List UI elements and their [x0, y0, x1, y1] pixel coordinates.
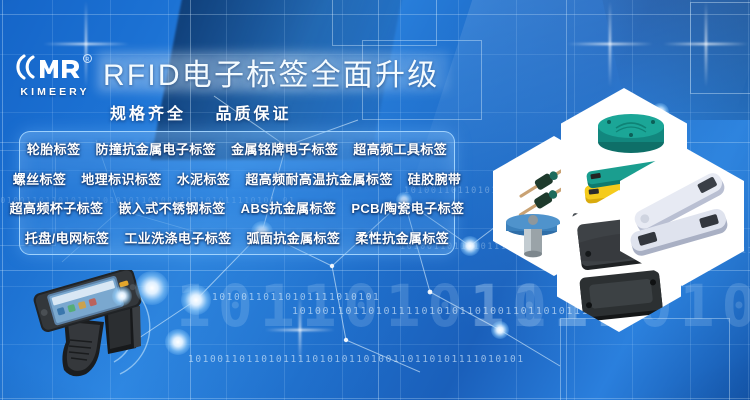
subtitle: 规格齐全 品质保证	[110, 100, 313, 124]
list-item[interactable]: 硅胶腕带	[408, 169, 462, 188]
list-item[interactable]: 柔性抗金属标签	[355, 228, 449, 247]
background-binary-row: 10100110110101111010101	[212, 292, 380, 303]
reader-glow	[135, 271, 169, 305]
svg-text:R: R	[86, 57, 90, 63]
subtitle-part-2: 品质保证	[215, 106, 291, 123]
product-list-row: 托盘/电网标签 工业洗涤电子标签 弧面抗金属标签 柔性抗金属标签	[26, 223, 448, 253]
reader-glow	[112, 286, 132, 306]
brand-logo[interactable]: R KIMEERY	[12, 52, 98, 106]
list-item[interactable]: 防撞抗金属电子标签	[95, 139, 216, 158]
list-item[interactable]: 嵌入式不锈钢标签	[118, 198, 225, 217]
list-item[interactable]: 螺丝标签	[13, 169, 67, 188]
kimeery-logo-mark-icon: R	[12, 52, 98, 84]
list-item[interactable]: PCB/陶瓷电子标签	[351, 198, 464, 217]
product-list-row: 超高频杯子标签 嵌入式不锈钢标签 ABS抗金属标签 PCB/陶瓷电子标签	[26, 193, 448, 223]
brand-name: KIMEERY	[12, 86, 98, 98]
list-item[interactable]: 地理标识标签	[81, 169, 161, 188]
list-item[interactable]: 弧面抗金属标签	[247, 228, 341, 247]
network-node-glow	[165, 329, 191, 355]
list-item[interactable]: 超高频耐高温抗金属标签	[245, 169, 392, 188]
list-item[interactable]: 超高频工具标签	[353, 139, 447, 158]
list-item[interactable]: 水泥标签	[177, 169, 231, 188]
list-item[interactable]: ABS抗金属标签	[241, 198, 337, 217]
network-node-glow	[491, 321, 509, 339]
list-item[interactable]: 超高频杯子标签	[10, 198, 104, 217]
rfid-promo-banner: 10110101111 1011010111111 10100110110101…	[0, 0, 750, 400]
network-node-glow	[460, 236, 480, 256]
page-title: RFID电子标签全面升级	[103, 52, 463, 92]
subtitle-part-1: 规格齐全	[110, 106, 186, 123]
list-item[interactable]: 工业洗涤电子标签	[124, 228, 231, 247]
background-frame-box-3	[690, 2, 750, 94]
list-item[interactable]: 托盘/电网标签	[25, 228, 109, 247]
network-node-glow	[181, 285, 211, 315]
product-list-panel: 轮胎标签 防撞抗金属电子标签 金属铭牌电子标签 超高频工具标签 螺丝标签 地理标…	[19, 131, 455, 255]
product-list-row: 螺丝标签 地理标识标签 水泥标签 超高频耐高温抗金属标签 硅胶腕带	[26, 164, 448, 194]
list-item[interactable]: 金属铭牌电子标签	[231, 139, 338, 158]
product-list-row: 轮胎标签 防撞抗金属电子标签 金属铭牌电子标签 超高频工具标签	[26, 134, 448, 164]
background-binary-row: 1010011011010111101010110100110110101111…	[188, 354, 525, 365]
list-item[interactable]: 轮胎标签	[27, 139, 81, 158]
